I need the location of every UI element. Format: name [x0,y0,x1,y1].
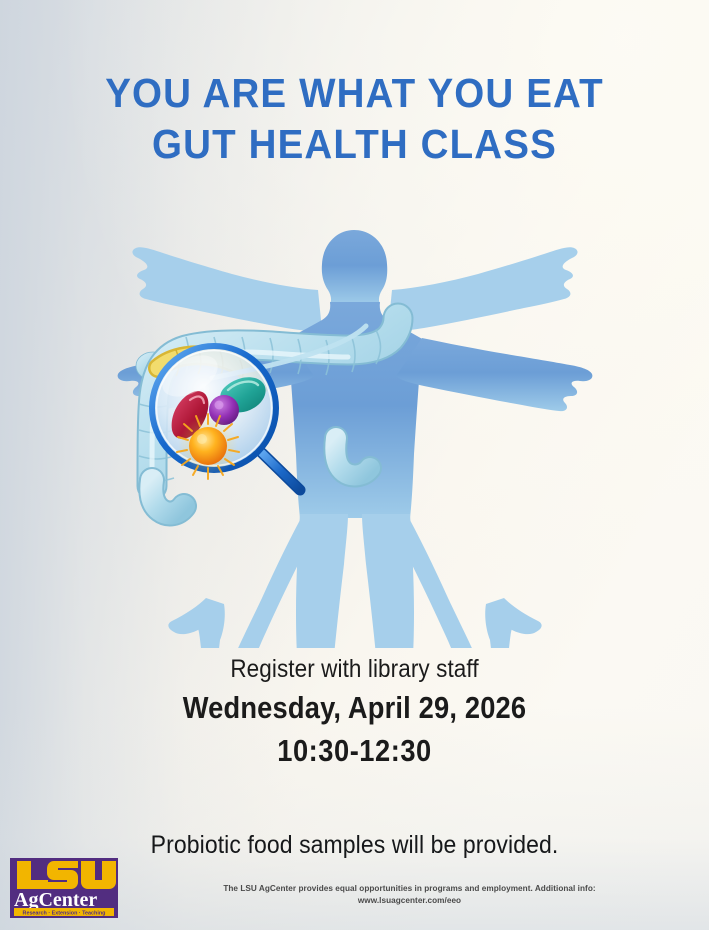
logo-agcenter-text: AgCenter [14,889,97,911]
fineprint-line-1: The LSU AgCenter provides equal opportun… [120,883,699,895]
eeo-fineprint: The LSU AgCenter provides equal opportun… [120,883,699,907]
poster-canvas: YOU ARE WHAT YOU EAT GUT HEALTH CLASS [0,0,709,930]
register-instruction: Register with library staff [35,652,673,686]
poster-title: YOU ARE WHAT YOU EAT GUT HEALTH CLASS [0,68,709,170]
event-info: Register with library staff Wednesday, A… [0,652,709,772]
gut-health-illustration [0,218,709,648]
ghost-feet [168,598,541,648]
fineprint-line-2: www.lsuagcenter.com/eeo [120,895,699,907]
title-line-2: GUT HEALTH CLASS [21,119,687,170]
event-date: Wednesday, April 29, 2026 [43,686,667,730]
human-figure-legs [296,514,414,648]
event-time: 10:30-12:30 [43,730,667,772]
samples-note: Probiotic food samples will be provided. [28,830,680,860]
logo-tagline-text: Research · Extension · Teaching [23,910,106,916]
lsu-agcenter-logo: AgCenter Research · Extension · Teaching [10,858,118,918]
title-line-1: YOU ARE WHAT YOU EAT [21,68,687,119]
